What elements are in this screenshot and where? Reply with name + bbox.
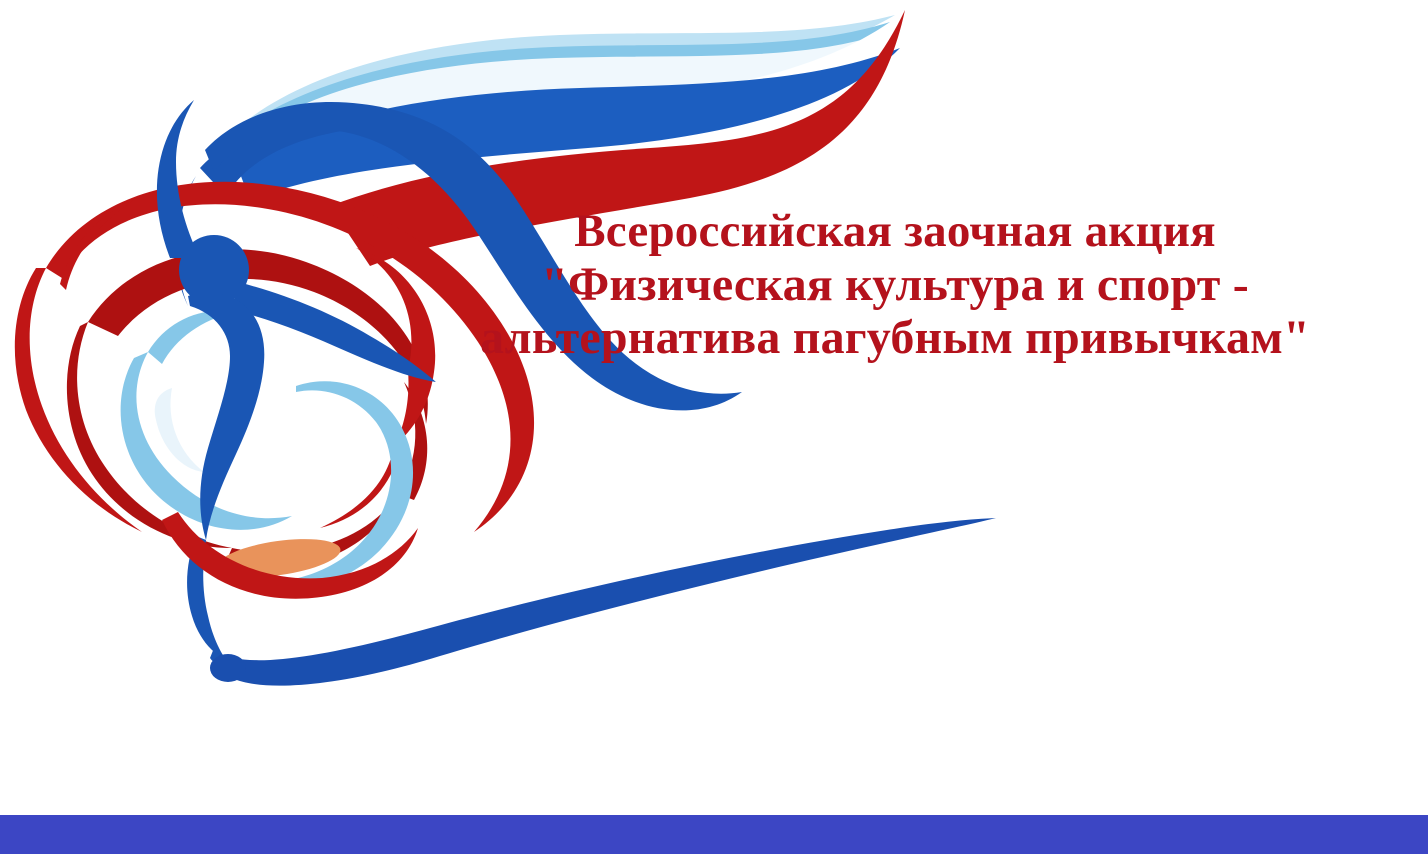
title-line-1: Всероссийская заочная акция (430, 205, 1360, 258)
poster-title: Всероссийская заочная акция "Физическая … (430, 205, 1360, 365)
title-line-2: "Физическая культура и спорт - (430, 258, 1360, 312)
figure-left-arm (157, 100, 200, 258)
poster-canvas: Всероссийская заочная акция "Физическая … (0, 0, 1428, 854)
bottom-accent-bar (0, 815, 1428, 854)
title-line-3: альтернатива пагубным привычкам" (430, 311, 1360, 365)
